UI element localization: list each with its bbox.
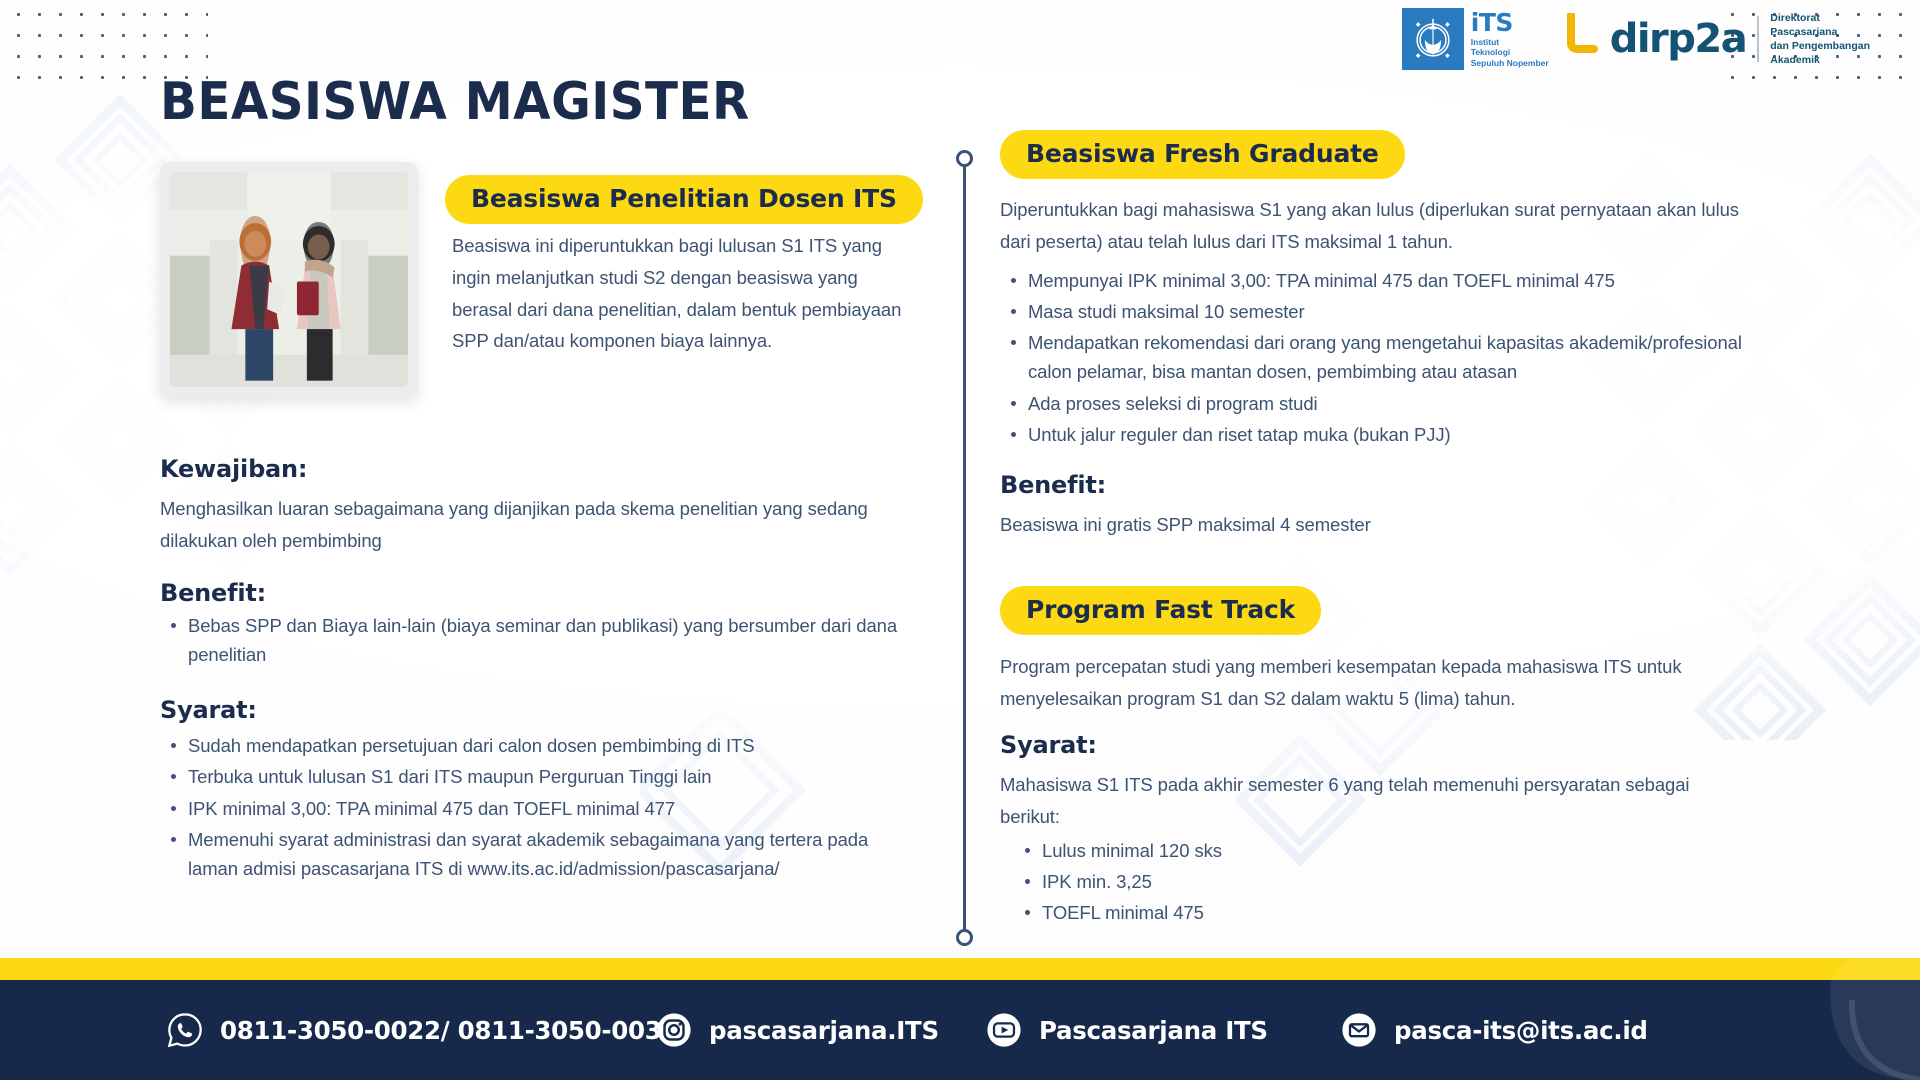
benefit-block: Benefit: Bebas SPP dan Biaya lain-lain (… bbox=[160, 579, 920, 669]
youtube-icon bbox=[985, 1011, 1023, 1049]
list-item: IPK min. 3,25 bbox=[1014, 867, 1790, 896]
dirp2a-symbol-icon bbox=[1565, 13, 1599, 65]
its-wordmark: iTS Institut Teknologi Sepuluh Nopember bbox=[1471, 10, 1549, 67]
list-item: Bebas SPP dan Biaya lain-lain (biaya sem… bbox=[160, 611, 920, 669]
benefit-list: Bebas SPP dan Biaya lain-lain (biaya sem… bbox=[160, 611, 920, 669]
list-item: Lulus minimal 120 sks bbox=[1014, 836, 1790, 865]
dirp2a-sub-line-1: Direktorat bbox=[1770, 11, 1870, 25]
syarat-block: Syarat: Sudah mendapatkan persetujuan da… bbox=[160, 696, 920, 883]
list-item: TOEFL minimal 475 bbox=[1014, 898, 1790, 927]
list-item: Masa studi maksimal 10 semester bbox=[1000, 297, 1790, 326]
page-title: BEASISWA MAGISTER bbox=[160, 72, 750, 132]
timeline-dot-top bbox=[956, 150, 973, 167]
instagram-icon bbox=[655, 1011, 693, 1049]
its-gear-icon bbox=[1402, 8, 1464, 70]
kewajiban-heading: Kewajiban: bbox=[160, 455, 920, 483]
fresh-graduate-list: Mempunyai IPK minimal 3,00: TPA minimal … bbox=[1000, 266, 1790, 449]
footer-instagram-text: pascasarjana.ITS bbox=[709, 1016, 939, 1045]
fresh-graduate-section: Beasiswa Fresh Graduate Diperuntukkan ba… bbox=[1000, 130, 1790, 541]
syarat-heading: Syarat: bbox=[160, 696, 920, 724]
list-item: Sudah mendapatkan persetujuan dari calon… bbox=[160, 731, 920, 760]
footer-email-text: pasca-its@its.ac.id bbox=[1394, 1016, 1648, 1045]
logo-bar: iTS Institut Teknologi Sepuluh Nopember … bbox=[1402, 8, 1870, 70]
fast-track-syarat-heading: Syarat: bbox=[1000, 731, 1790, 759]
footer-whatsapp-text: 0811-3050-0022/ 0811-3050-0033 bbox=[220, 1016, 678, 1045]
left-intro-text: Beasiswa ini diperuntukkan bagi lulusan … bbox=[452, 230, 912, 357]
its-abbreviation: iTS bbox=[1471, 10, 1549, 35]
whatsapp-icon bbox=[166, 1011, 204, 1049]
banner-beasiswa-fresh-graduate: Beasiswa Fresh Graduate bbox=[1000, 130, 1405, 179]
fast-track-section: Program Fast Track Program percepatan st… bbox=[1000, 586, 1790, 928]
footer-contact-email[interactable]: pasca-its@its.ac.id bbox=[1340, 1011, 1648, 1049]
list-item: Mendapatkan rekomendasi dari orang yang … bbox=[1000, 328, 1790, 386]
student-photo-illustration bbox=[170, 172, 408, 387]
timeline-dot-bottom bbox=[956, 929, 973, 946]
its-sub-line-1: Institut bbox=[1471, 37, 1549, 47]
dirp2a-logo: dirp2a Direktorat Pascasarjana dan Penge… bbox=[1565, 11, 1870, 67]
footer-contact-youtube[interactable]: Pascasarjana ITS bbox=[985, 1011, 1268, 1049]
fast-track-syarat-intro: Mahasiswa S1 ITS pada akhir semester 6 y… bbox=[1000, 769, 1740, 833]
dirp2a-sub-line-2: Pascasarjana bbox=[1770, 25, 1870, 39]
fresh-graduate-benefit-heading: Benefit: bbox=[1000, 471, 1790, 499]
footer-contact-instagram[interactable]: pascasarjana.ITS bbox=[655, 1011, 939, 1049]
footer-contact-whatsapp[interactable]: 0811-3050-0022/ 0811-3050-0033 bbox=[166, 1011, 678, 1049]
email-icon bbox=[1340, 1011, 1378, 1049]
timeline-line bbox=[963, 158, 966, 946]
fast-track-intro: Program percepatan studi yang memberi ke… bbox=[1000, 651, 1740, 715]
its-logo: iTS Institut Teknologi Sepuluh Nopember bbox=[1402, 8, 1549, 70]
fresh-graduate-benefit-text: Beasiswa ini gratis SPP maksimal 4 semes… bbox=[1000, 509, 1790, 541]
right-column-body: Beasiswa Fresh Graduate Diperuntukkan ba… bbox=[1000, 130, 1790, 930]
footer-youtube-text: Pascasarjana ITS bbox=[1039, 1016, 1268, 1045]
kewajiban-block: Kewajiban: Menghasilkan luaran sebagaima… bbox=[160, 455, 920, 557]
banner-program-fast-track: Program Fast Track bbox=[1000, 586, 1321, 635]
footer-bar: 0811-3050-0022/ 0811-3050-0033 pascasarj… bbox=[0, 980, 1920, 1080]
footer-swoosh-decoration bbox=[1770, 930, 1920, 1080]
banner-beasiswa-penelitian-dosen: Beasiswa Penelitian Dosen ITS bbox=[445, 175, 923, 224]
list-item: IPK minimal 3,00: TPA minimal 475 dan TO… bbox=[160, 794, 920, 823]
its-sub-line-2: Teknologi bbox=[1471, 47, 1549, 57]
benefit-heading: Benefit: bbox=[160, 579, 920, 607]
its-sub-line-3: Sepuluh Nopember bbox=[1471, 58, 1549, 68]
dirp2a-subtitle: Direktorat Pascasarjana dan Pengembangan… bbox=[1770, 11, 1870, 67]
list-item: Memenuhi syarat administrasi dan syarat … bbox=[160, 825, 920, 883]
dirp2a-sub-line-3: dan Pengembangan bbox=[1770, 39, 1870, 53]
syarat-list: Sudah mendapatkan persetujuan dari calon… bbox=[160, 731, 920, 883]
kewajiban-text: Menghasilkan luaran sebagaimana yang dij… bbox=[160, 493, 920, 557]
list-item: Mempunyai IPK minimal 3,00: TPA minimal … bbox=[1000, 266, 1790, 295]
left-banner-row: Beasiswa Penelitian Dosen ITS bbox=[445, 175, 923, 224]
poster-canvas: iTS Institut Teknologi Sepuluh Nopember … bbox=[0, 0, 1920, 1080]
list-item: Ada proses seleksi di program studi bbox=[1000, 389, 1790, 418]
fast-track-syarat-list: Lulus minimal 120 sks IPK min. 3,25 TOEF… bbox=[1000, 836, 1790, 928]
timeline-divider bbox=[955, 148, 975, 948]
dirp2a-wordmark: dirp2a bbox=[1610, 21, 1747, 57]
footer-accent-strip bbox=[0, 958, 1920, 980]
logo-divider bbox=[1757, 16, 1759, 62]
fresh-graduate-intro: Diperuntukkan bagi mahasiswa S1 yang aka… bbox=[1000, 194, 1765, 258]
list-item: Untuk jalur reguler dan riset tatap muka… bbox=[1000, 420, 1790, 449]
dirp2a-sub-line-4: Akademik bbox=[1770, 53, 1870, 67]
student-photo bbox=[160, 162, 418, 397]
left-column-body: Kewajiban: Menghasilkan luaran sebagaima… bbox=[160, 455, 920, 885]
list-item: Terbuka untuk lulusan S1 dari ITS maupun… bbox=[160, 762, 920, 791]
